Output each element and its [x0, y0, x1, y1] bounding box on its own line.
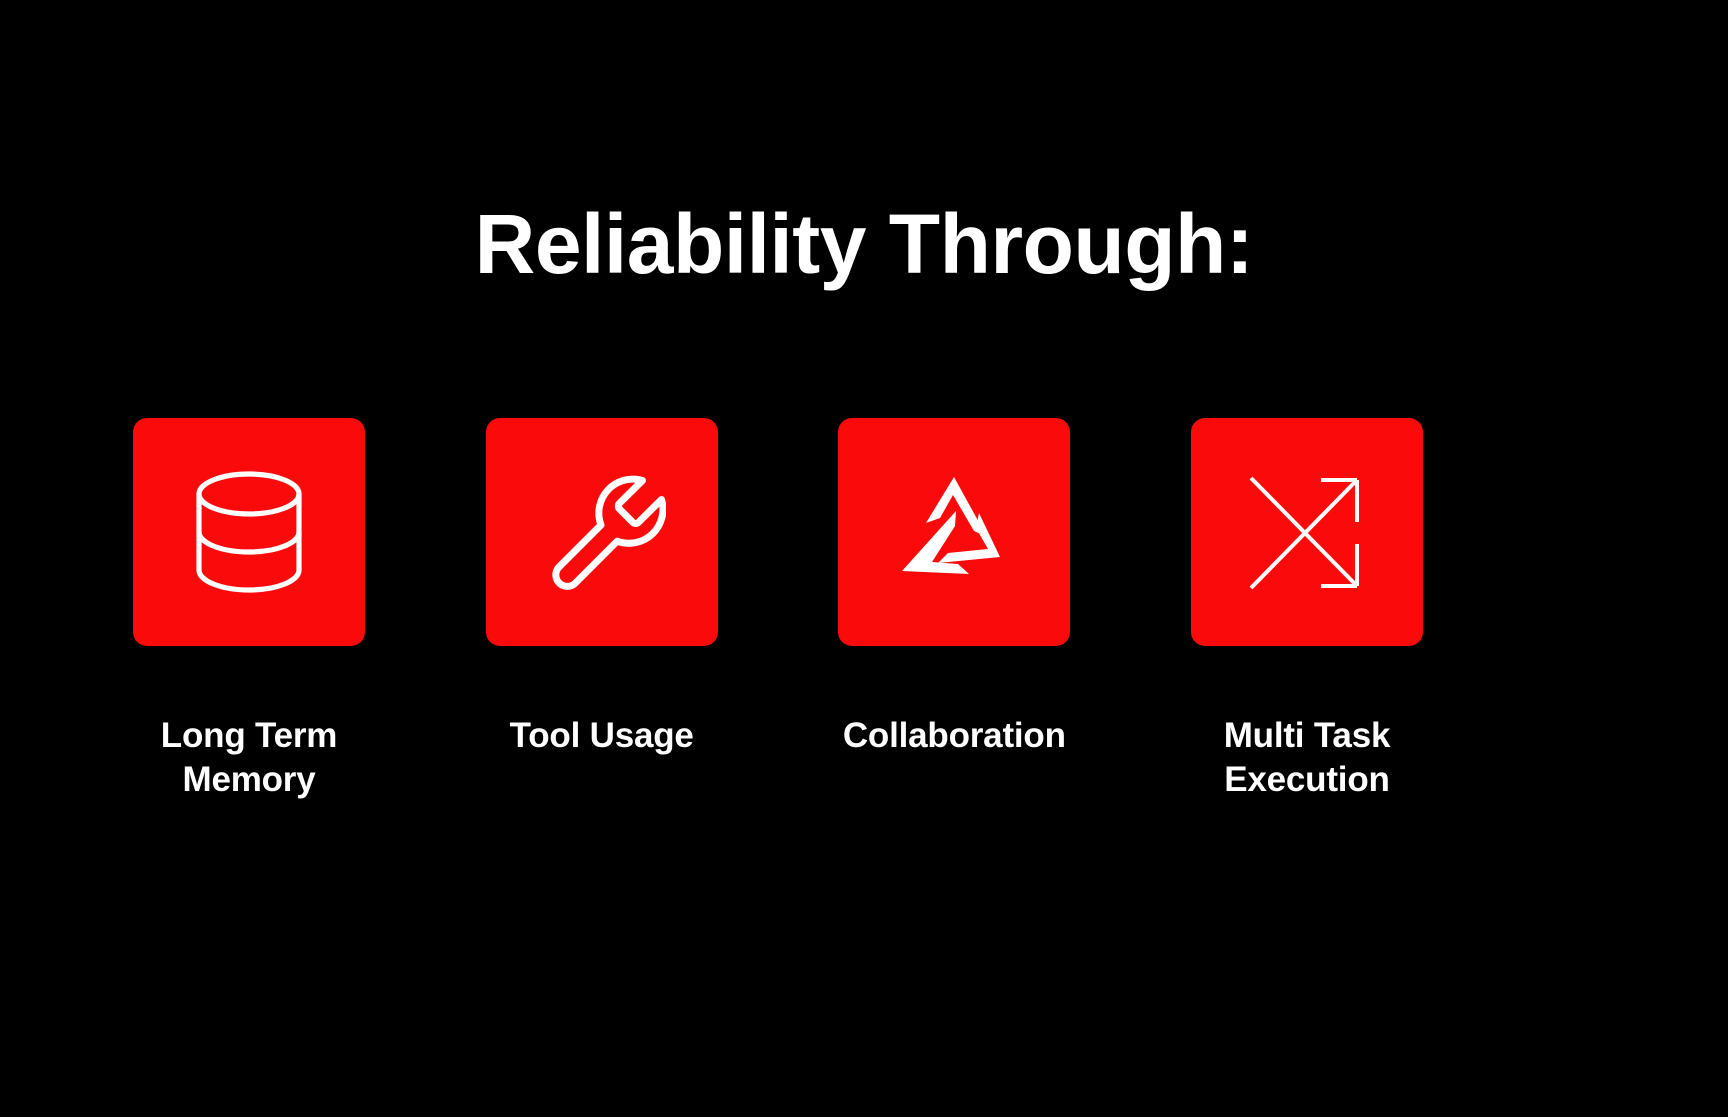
- feature-card-row: Long Term Memory Tool Usage: [133, 418, 1423, 802]
- feature-card-label: Tool Usage: [462, 714, 742, 758]
- feature-card-label-line1: Collaboration: [843, 716, 1066, 755]
- icon-tile-multi-task-execution[interactable]: [1191, 418, 1423, 646]
- icon-tile-collaboration[interactable]: [838, 418, 1070, 646]
- feature-card-label-line1: Tool Usage: [510, 716, 694, 755]
- wrench-icon: [538, 468, 666, 596]
- feature-card-tool-usage[interactable]: Tool Usage: [486, 418, 718, 758]
- feature-card-label: Multi Task Execution: [1167, 714, 1447, 802]
- feature-card-collaboration[interactable]: Collaboration: [838, 418, 1070, 758]
- feature-card-multi-task-execution[interactable]: Multi Task Execution: [1191, 418, 1423, 802]
- icon-tile-long-term-memory[interactable]: [133, 418, 365, 646]
- feature-card-label-line1: Long Term: [161, 716, 337, 755]
- feature-card-label: Long Term Memory: [109, 714, 389, 802]
- crossing-arrows-icon: [1245, 470, 1369, 594]
- feature-card-label-line2: Execution: [1224, 760, 1389, 799]
- feature-card-label-line1: Multi Task: [1224, 716, 1391, 755]
- database-icon: [189, 468, 309, 596]
- slide-root: Reliability Through: Long Term Memory: [0, 0, 1728, 1117]
- feature-card-long-term-memory[interactable]: Long Term Memory: [133, 418, 365, 802]
- page-title: Reliability Through:: [0, 196, 1728, 292]
- feature-card-label: Collaboration: [814, 714, 1094, 758]
- feature-card-label-line2: Memory: [182, 760, 315, 799]
- icon-tile-tool-usage[interactable]: [486, 418, 718, 646]
- cycle-arrows-icon: [890, 471, 1018, 593]
